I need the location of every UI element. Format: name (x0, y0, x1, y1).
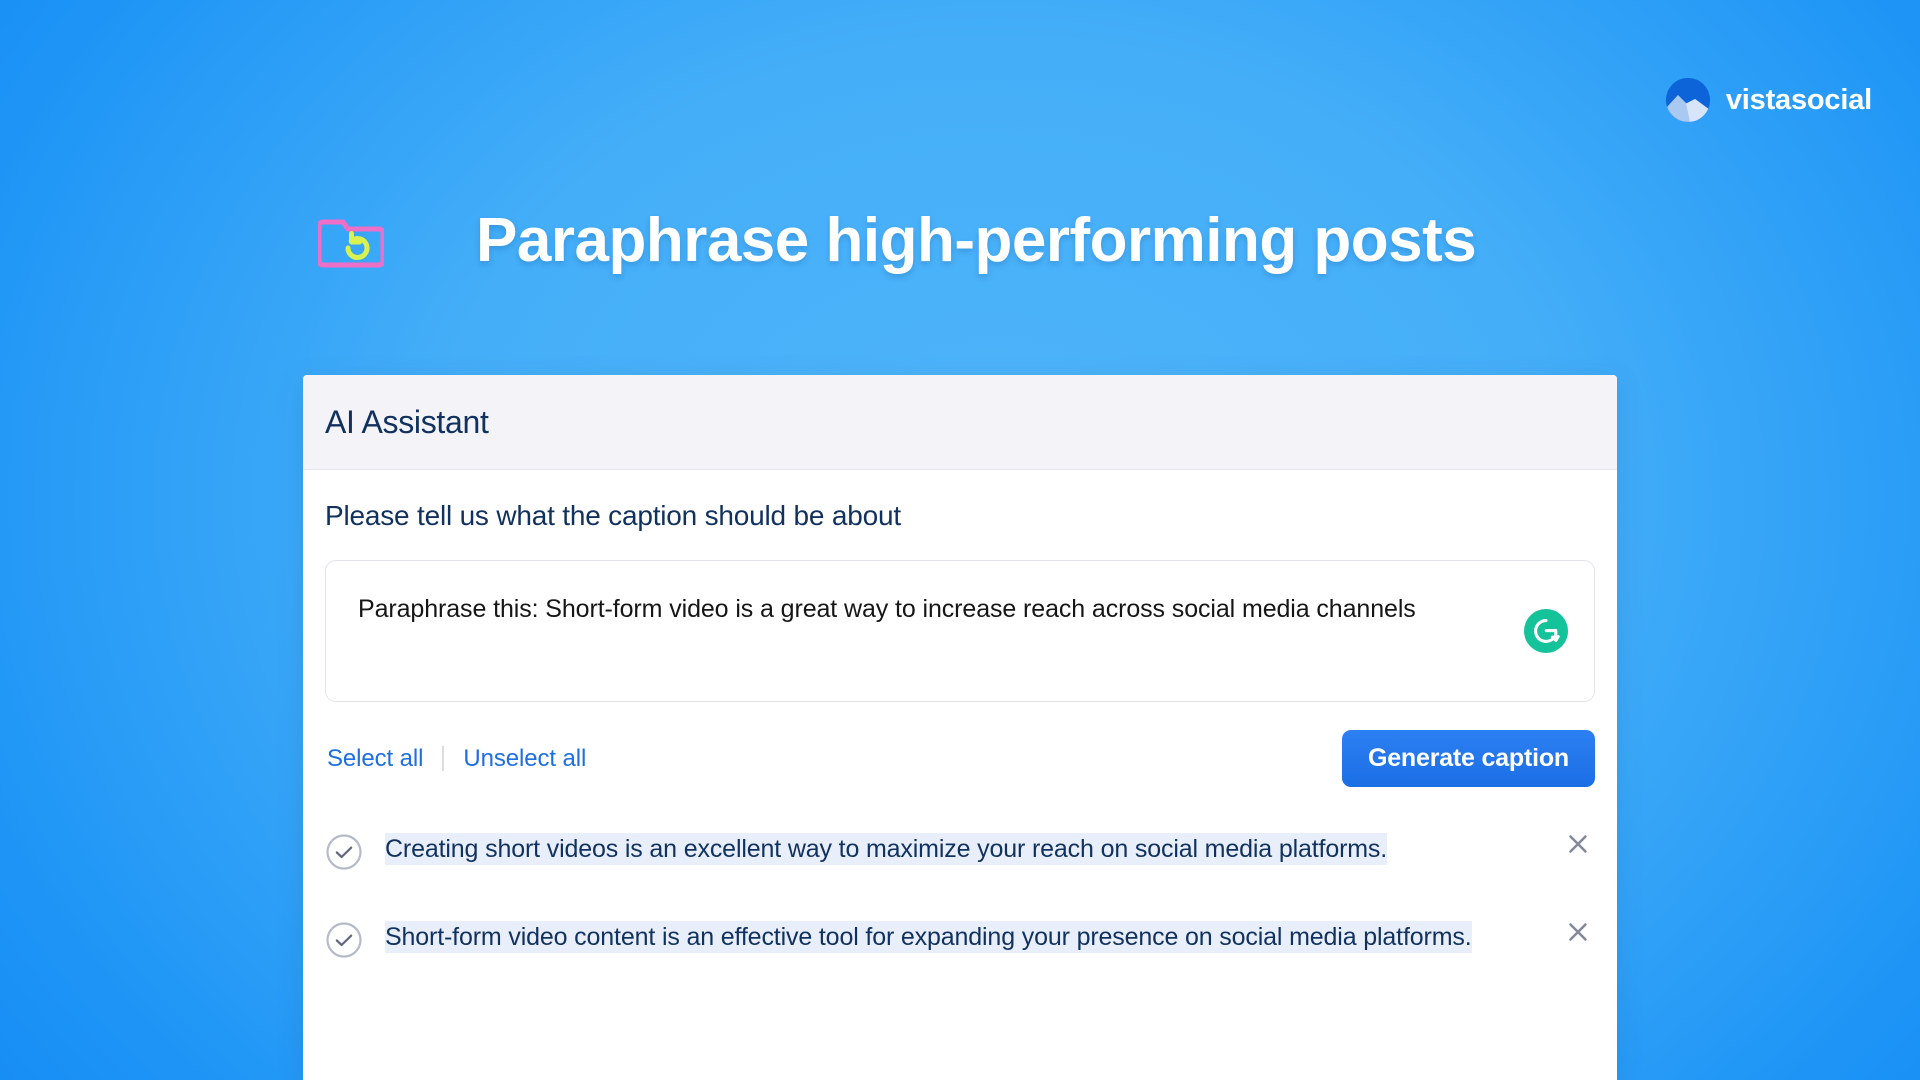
prompt-input-value[interactable]: Paraphrase this: Short-form video is a g… (358, 593, 1493, 625)
vistasocial-mountain-logo-icon (1666, 78, 1710, 122)
generate-caption-button[interactable]: Generate caption (1342, 730, 1595, 787)
list-item[interactable]: Creating short videos is an excellent wa… (325, 829, 1595, 871)
grammarly-icon[interactable] (1524, 609, 1568, 653)
link-divider (442, 746, 444, 771)
ai-assistant-card: AI Assistant Please tell us what the cap… (303, 375, 1617, 1080)
results-list: Creating short videos is an excellent wa… (325, 829, 1595, 959)
prompt-label: Please tell us what the caption should b… (325, 500, 1595, 532)
result-text: Short-form video content is an effective… (385, 917, 1543, 958)
card-header: AI Assistant (303, 375, 1617, 470)
prompt-input[interactable]: Paraphrase this: Short-form video is a g… (325, 560, 1595, 702)
card-header-title: AI Assistant (325, 404, 489, 441)
select-all-link[interactable]: Select all (327, 745, 423, 773)
page-hero: Paraphrase high-performing posts (318, 205, 1476, 276)
unselect-all-link[interactable]: Unselect all (463, 745, 586, 773)
actions-row: Select all Unselect all Generate caption (325, 730, 1595, 787)
check-circle-icon[interactable] (325, 833, 363, 871)
check-circle-icon[interactable] (325, 921, 363, 959)
folder-refresh-icon (318, 208, 384, 274)
close-icon[interactable] (1565, 831, 1591, 857)
card-body: Please tell us what the caption should b… (303, 470, 1617, 959)
selection-links: Select all Unselect all (325, 745, 586, 773)
brand-logo: vistasocial (1666, 78, 1872, 122)
result-text: Creating short videos is an excellent wa… (385, 829, 1543, 870)
close-icon[interactable] (1565, 919, 1591, 945)
result-text-value: Short-form video content is an effective… (385, 921, 1472, 953)
brand-name: vistasocial (1726, 84, 1872, 117)
page-title: Paraphrase high-performing posts (476, 205, 1476, 276)
result-text-value: Creating short videos is an excellent wa… (385, 833, 1387, 865)
list-item[interactable]: Short-form video content is an effective… (325, 917, 1595, 959)
